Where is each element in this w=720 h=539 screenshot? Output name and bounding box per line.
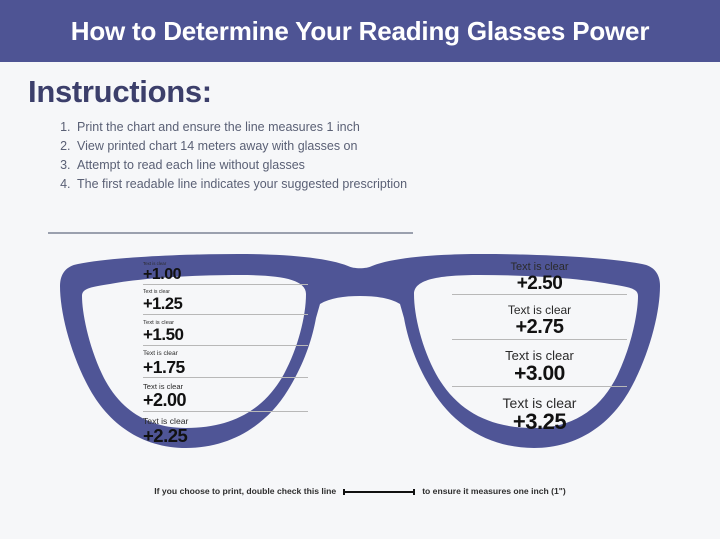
instructions-list: Print the chart and ensure the line meas… [52, 118, 464, 194]
note-text-after: to ensure it measures one inch (1") [422, 486, 566, 496]
lens-row: Text is clear +1.75 [143, 351, 308, 378]
instruction-item-4: The first readable line indicates your s… [74, 175, 464, 194]
lens-caption: Text is clear [452, 396, 627, 411]
ruler-cap-right [413, 489, 415, 495]
instruction-item-1: Print the chart and ensure the line meas… [74, 118, 464, 137]
lens-row: Text is clear +1.50 [143, 320, 308, 346]
lens-power: +3.25 [452, 410, 627, 433]
print-check-note: If you choose to print, double check thi… [0, 486, 720, 496]
lens-power: +1.00 [143, 267, 308, 284]
lens-power: +1.50 [143, 326, 308, 344]
lens-row: Text is clear +2.50 [452, 262, 627, 295]
section-divider [48, 232, 413, 234]
lens-row: Text is clear +2.25 [143, 417, 308, 446]
lens-row: Text is clear +2.00 [143, 383, 308, 412]
lens-power: +2.75 [452, 317, 627, 338]
lens-row: Text is clear +3.00 [452, 349, 627, 387]
ruler-cap-left [343, 489, 345, 495]
lens-power: +2.00 [143, 391, 308, 410]
lens-power: +3.00 [452, 363, 627, 385]
header-band: How to Determine Your Reading Glasses Po… [0, 0, 720, 62]
lens-caption: Text is clear [452, 262, 627, 274]
instruction-item-3: Attempt to read each line without glasse… [74, 156, 464, 175]
lens-row: Text is clear +1.25 [143, 290, 308, 315]
instructions-heading: Instructions: [28, 74, 212, 110]
instructions-section: Instructions: Print the chart and ensure… [0, 62, 720, 242]
one-inch-ruler-line [343, 487, 415, 496]
glasses-figure: Text is clear +1.00 Text is clear +1.25 … [0, 240, 720, 490]
left-lens-text-lines: Text is clear +1.00 Text is clear +1.25 … [143, 262, 308, 452]
lens-row: Text is clear +3.25 [452, 396, 627, 435]
lens-power: +2.50 [452, 274, 627, 294]
ruler-bar [343, 491, 415, 493]
lens-row: Text is clear +2.75 [452, 304, 627, 340]
lens-row: Text is clear +1.00 [143, 262, 308, 285]
lens-power: +1.75 [143, 358, 308, 376]
infographic-page: How to Determine Your Reading Glasses Po… [0, 0, 720, 539]
lens-power: +1.25 [143, 296, 308, 313]
lens-caption: Text is clear [452, 349, 627, 363]
note-text-before: If you choose to print, double check thi… [154, 486, 336, 496]
page-title: How to Determine Your Reading Glasses Po… [71, 16, 649, 47]
right-lens-text-lines: Text is clear +2.50 Text is clear +2.75 … [452, 262, 627, 444]
lens-power: +2.25 [143, 426, 308, 445]
instruction-item-2: View printed chart 14 meters away with g… [74, 137, 464, 156]
